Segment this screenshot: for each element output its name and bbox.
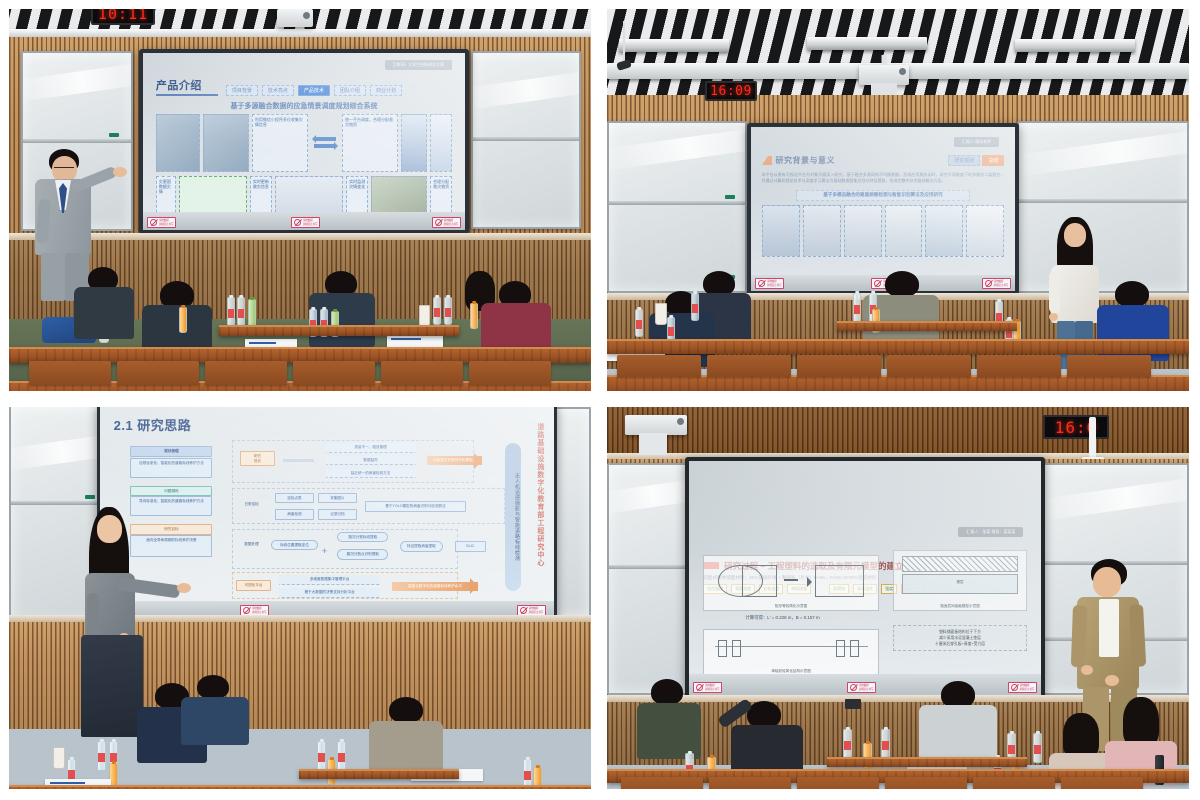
flow-platform-item: 多维度数据集中管理平台 [279, 575, 381, 584]
slide-research-background: 汇报人 指导老师 研究背景与意义 研究现状 总结 本平台以原有可视化平台为对象开… [751, 127, 1015, 291]
bottle-label [854, 305, 860, 315]
whiteboard-glare [607, 478, 691, 514]
wood-grain [607, 377, 1189, 391]
hair [885, 271, 919, 297]
bottle-cap [181, 305, 185, 308]
water-bottle [635, 309, 643, 337]
hair [389, 697, 423, 723]
flow-connector [283, 459, 314, 462]
juice-bottle [179, 307, 187, 333]
bottle-cap [883, 727, 887, 730]
whiteboard-right [471, 51, 581, 229]
slide-card [925, 205, 963, 257]
whiteboard-glare [471, 70, 581, 111]
desk-row-3 [837, 321, 1017, 331]
bottle-cap [535, 765, 539, 768]
slide-photo-disaster [203, 114, 249, 172]
cad-wheel [732, 640, 741, 657]
mic-cable [623, 21, 625, 63]
seat-back [887, 355, 971, 377]
slide-subtitle: 基于多源融合数据的应急情景调度规划综合系统 [156, 101, 452, 111]
led-clock-time: 10:11 [98, 9, 148, 23]
warning-sticker: 请勿触摸屏幕禁止书写 [291, 217, 320, 228]
hair [747, 701, 781, 728]
seat-back [797, 355, 881, 377]
flow-platform-item: 基于大数据的决策支持分析平台 [279, 588, 381, 597]
warning-text: 请勿触摸屏幕禁止书写 [705, 684, 719, 690]
hand-pointing [177, 583, 191, 593]
slide-badge: 互联网+ 大学生创新创业大赛 [385, 60, 452, 70]
bottle-label [318, 753, 325, 763]
slide-sidebar-text: 道路基础设施数字化教育部工程研究中心 [535, 423, 545, 597]
slide-arrows [311, 114, 339, 172]
slide-card [966, 205, 1004, 257]
cad-wheel [718, 640, 727, 657]
whiteboard-right [551, 407, 591, 619]
bottle-label [692, 304, 698, 313]
prohibition-icon [435, 219, 442, 226]
bottle-label [68, 770, 75, 779]
desk-row-2 [9, 785, 591, 789]
flow-algo-node: 特征提取病害提取 [400, 541, 443, 551]
water-bottle [227, 297, 235, 327]
bottle-cap [855, 291, 859, 294]
flow-label-algo: 数据处理 [236, 540, 267, 548]
juice-bottle [470, 303, 478, 329]
flow-arrow-result: 以标准交叉研究分析基础上 [427, 456, 482, 465]
cad-rect-shape [742, 565, 777, 596]
projection-screen-frame: 汇报人：张某 指导：某某某 研究过程 – 工程塑料的选取及有限元模型的建立 装配… [685, 457, 1045, 699]
panel-bottom-right: 16:0 汇报人：张某 指导：某某某 [607, 407, 1189, 789]
warning-text: 请勿触摸屏幕禁止书写 [303, 219, 317, 225]
bottle-cap [669, 315, 673, 318]
prohibition-icon [150, 219, 157, 226]
slide-badge: 汇报人 指导老师 [954, 137, 999, 147]
torso [919, 705, 997, 763]
slide-top-row: 利用微信小程序多位收集灾情信息 统一平台调度，合理分配救灾物资 [156, 114, 452, 172]
warning-sticker: 请勿触摸屏幕禁止书写 [755, 278, 784, 289]
flow-algo-node: 标线位置提取定位 [271, 540, 318, 550]
led-clock: 16:09 [705, 81, 757, 101]
audience-member [919, 681, 997, 759]
hand-pointing [113, 167, 127, 177]
water-bottle [317, 741, 326, 771]
slide-header-row: 产品介绍 项目背景 技术亮点 产品技术 团队介绍 商业计划 [156, 77, 452, 96]
panel-bottom-left: 2.1 研究思路 现状梳理 目视化老化、智能化的道路标线养护方法 问题凝练 导向… [9, 407, 591, 789]
flow-step-body: 目视化老化、智能化的道路标线养护方法 [130, 458, 212, 478]
led-clock: 16:0 [1043, 415, 1109, 439]
slide-phone-mockup [156, 114, 200, 172]
slide-text-box-right: 统一平台调度，合理分配救灾物资 [342, 114, 398, 172]
ceiling-speaker [845, 699, 861, 709]
ceiling [607, 9, 1189, 101]
audience-member [637, 679, 701, 755]
warning-text: 请勿触摸屏幕禁止书写 [252, 607, 266, 613]
plus-icon: + [322, 546, 327, 556]
warning-text: 请勿触摸屏幕禁止书写 [529, 607, 543, 613]
flow-step-header: 现状梳理 [130, 446, 212, 456]
projection-screen-frame: 互联网+ 大学生创新创业大赛 产品介绍 项目背景 技术亮点 产品技术 团队介绍 [139, 49, 469, 234]
water-bottle [1033, 733, 1042, 763]
water-bottle [97, 741, 106, 771]
whiteboard-rail [11, 501, 103, 505]
torso [74, 287, 134, 339]
doc-strip [391, 338, 420, 341]
bottle-cap [111, 739, 115, 742]
warning-text: 请勿触摸屏幕禁止书写 [444, 219, 458, 225]
seat-back [1061, 777, 1143, 789]
led-clock: 10:11 [91, 9, 155, 25]
slide-tab: 项目背景 [226, 85, 258, 96]
water-bottle [237, 297, 245, 327]
water-bottle [433, 297, 441, 325]
whiteboard-glare [21, 61, 133, 102]
audience-member [181, 675, 249, 741]
bottle-cap [319, 739, 323, 742]
projector [625, 415, 687, 435]
lecture-hall-room: 16:0 汇报人：张某 指导：某某某 [607, 407, 1189, 789]
slide-banner: 基于多模态融合的路面病害检测与智能识别算法及应用研究 [796, 190, 971, 201]
bottle-cap [865, 741, 869, 744]
bottle-label [1034, 745, 1041, 755]
projector-lens [677, 418, 684, 425]
marker-tray-icon [85, 495, 95, 499]
seat-back [885, 777, 967, 789]
flow-vertical-capsule: 无人机遥感摄影与智能道路标线检测 [505, 443, 521, 591]
wood-grain [9, 787, 591, 789]
seat-back [617, 355, 701, 377]
cad-rect-result [815, 565, 864, 596]
bottle-label [338, 753, 345, 763]
desk-row-3 [827, 757, 1027, 767]
whiteboard-rail [23, 139, 131, 143]
hair [651, 679, 683, 705]
bottle-cap [69, 757, 73, 760]
wood-grain [827, 759, 1027, 767]
projection-screen: 汇报人：张某 指导：某某某 研究过程 – 工程塑料的选取及有限元模型的建立 装配… [689, 461, 1041, 695]
cad-wheel [836, 640, 845, 657]
arm-right [1129, 604, 1146, 667]
seat-back [709, 777, 791, 789]
flow-inspect-item: 巡检点表 [275, 493, 314, 503]
flow-arrow-outcome: 智能化数字化的道路标线养护水平 [392, 582, 478, 591]
prohibition-icon [520, 607, 527, 614]
arm-left [1071, 605, 1087, 667]
seat-back [973, 777, 1055, 789]
flow-inspect-item: 病害检测 [275, 509, 314, 519]
whiteboard-left [607, 463, 691, 695]
slide-card-row [762, 205, 1005, 257]
seat-back [707, 355, 791, 377]
bottle-cap [1007, 317, 1011, 320]
bottle-label [668, 327, 674, 335]
bottle-label [98, 753, 105, 763]
slide-title: 产品介绍 [156, 77, 218, 93]
bottle-label [636, 320, 642, 329]
projector-base [871, 83, 897, 95]
wood-grain [607, 341, 1189, 354]
warning-text: 请勿触摸屏幕禁止书写 [859, 684, 873, 690]
marker-tray-icon [725, 195, 735, 199]
wood-grain [219, 327, 459, 336]
title-underline [156, 94, 218, 96]
torso [637, 703, 701, 759]
projection-screen-frame: 汇报人 指导老师 研究背景与意义 研究现状 总结 本平台以原有可视化平台为对象开… [747, 123, 1019, 295]
bottle-cap [845, 727, 849, 730]
documents [387, 335, 443, 347]
prohibition-icon [1011, 684, 1018, 691]
hand-gesture [1081, 665, 1093, 675]
flow-label-inspect: 日常巡检 [236, 500, 267, 508]
slide-tab-active: 总结 [982, 155, 1004, 166]
bottle-cap [111, 761, 115, 764]
slide-research-process: 汇报人：张某 指导：某某某 研究过程 – 工程塑料的选取及有限元模型的建立 装配… [689, 461, 1041, 695]
whiteboard-rail [609, 565, 689, 569]
whiteboard-rail [609, 201, 745, 205]
white-tshirt [1099, 599, 1119, 657]
hand-gesture [1105, 675, 1119, 686]
whiteboard-glare [1017, 126, 1189, 178]
prohibition-icon [850, 684, 857, 691]
whiteboard-rail [473, 137, 579, 141]
bottle-cap [871, 291, 875, 294]
bottle-label [238, 309, 244, 319]
torso [181, 697, 249, 745]
audience-member [74, 267, 136, 337]
projection-screen: 互联网+ 大学生创新创业大赛 产品介绍 项目背景 技术亮点 产品技术 团队介绍 [143, 53, 465, 230]
arm-raised [71, 166, 118, 193]
projector-stalk [882, 55, 887, 65]
bottle-label [1008, 745, 1015, 755]
coffee-cup [655, 303, 667, 325]
slide-tabs: 项目背景 技术亮点 产品技术 团队介绍 商业计划 [226, 85, 402, 96]
audience-member [481, 281, 551, 353]
seat-back [117, 361, 199, 385]
slide-product-intro: 互联网+ 大学生创新创业大赛 产品介绍 项目背景 技术亮点 产品技术 团队介绍 [143, 53, 465, 230]
flow-problem: 质量不一、粗放管理 [326, 443, 416, 452]
bottle-cap [339, 739, 343, 742]
flow-algo-node: 路况分割标线提取 [337, 532, 388, 542]
ceiling-light-fixture [807, 37, 927, 50]
warning-text: 请勿触摸屏幕禁止书写 [1020, 684, 1034, 690]
bottle-cap [333, 309, 337, 312]
lecture-hall-room: 16:09 汇报人 指导老师 [607, 9, 1189, 391]
bottle-label [844, 741, 851, 751]
projector-lens [303, 12, 310, 19]
projector [859, 65, 909, 85]
flow-algo-node: 路况分割点识别提取 [337, 549, 388, 559]
seat-back [205, 361, 287, 385]
torso [369, 721, 443, 773]
tea-bottle [248, 299, 256, 327]
head [1093, 567, 1121, 597]
led-clock-time: 16:09 [710, 84, 752, 99]
bottle-cap [435, 295, 439, 298]
ceiling-light-fixture [619, 39, 729, 52]
seat-back [621, 777, 703, 789]
water-bottle [444, 297, 452, 325]
water-bottle [881, 729, 890, 759]
long-skirt [81, 635, 143, 737]
bottle-cap [709, 755, 713, 758]
head [97, 515, 122, 543]
slide-tabs: 研究现状 总结 [948, 155, 1004, 166]
head [1064, 223, 1086, 247]
warning-text: 请勿触摸屏幕禁止书写 [994, 280, 1008, 286]
seat-back [293, 361, 375, 385]
leg-left [41, 253, 65, 301]
bottle-cap [311, 307, 315, 310]
slide-tab-active: 产品技术 [298, 85, 330, 96]
slide-tab: 研究现状 [948, 155, 980, 166]
cad-diagram-simplification: 矩形等效简化示意图 [703, 555, 879, 611]
projector-lens [899, 68, 906, 75]
cad-diagram-axle: 单轴双轮简化结构示意图 [703, 629, 879, 676]
bottle-cap [693, 291, 697, 294]
hair [941, 681, 975, 708]
bottle-cap [329, 757, 333, 760]
whiteboard-rail [1019, 199, 1187, 203]
desk-row-3 [299, 769, 459, 779]
whiteboard-glare [1043, 474, 1189, 521]
slide-card [803, 205, 841, 257]
bottle-label [445, 308, 451, 317]
warning-sticker: 请勿触摸屏幕禁止书写 [147, 217, 176, 228]
bottle-cap [322, 307, 326, 310]
hand-with-clicker [1049, 313, 1058, 321]
whiteboard-glare [607, 125, 747, 171]
flow-label-research: 研究现状 [240, 451, 275, 466]
marker-tray-icon [109, 133, 119, 137]
water-bottle [337, 741, 346, 771]
cad-arrow [784, 579, 798, 581]
slide-text-box-left: 利用微信小程序多位收集灾情信息 [252, 114, 308, 172]
slide-header-row: 研究背景与意义 研究现状 总结 [762, 155, 1005, 166]
audience-member [1105, 697, 1177, 779]
ceiling-slats [607, 9, 1189, 101]
warning-sticker: 请勿触摸屏幕禁止书写 [1008, 682, 1037, 693]
arm-left [1049, 271, 1060, 313]
bottle-label [882, 741, 889, 751]
projector [277, 9, 313, 27]
cad-caption: 矩形等效简化示意图 [704, 604, 878, 609]
seat-back [381, 361, 463, 385]
panel-top-left: 10:11 互联网+ [9, 9, 591, 391]
flow-algo-node: SLIC [455, 541, 486, 551]
bottle-cap [637, 307, 641, 310]
bottle-cap [229, 295, 233, 298]
lecture-hall-room: 10:11 互联网+ [9, 9, 591, 391]
bottle-cap [1009, 731, 1013, 734]
bottle-cap [446, 295, 450, 298]
audience-member [142, 281, 212, 355]
bottle-label [228, 309, 234, 319]
prohibition-icon [243, 607, 250, 614]
bottle-cap [687, 751, 691, 754]
desk-row-2 [607, 339, 1189, 354]
projector-mount [639, 433, 667, 455]
warning-text: 请勿触摸屏幕禁止书写 [767, 280, 781, 286]
doc-strip [249, 342, 276, 345]
slide-note-box: 塑料铺面板结构位于下方 减少采用水泥混凝土垫层 十厘米后穿孔板+厚度+受力层 [893, 625, 1027, 651]
cad-wheel [850, 640, 859, 657]
glasses-icon [54, 167, 74, 169]
ceiling-beam [9, 29, 591, 37]
camera-boom [1089, 417, 1096, 461]
warning-sticker: 请勿触摸屏幕禁止书写 [982, 278, 1011, 289]
wood-grain [299, 771, 459, 779]
flow-label-platform: 可视化平台 [236, 580, 271, 590]
bottle-cap [99, 739, 103, 742]
seat-back [977, 355, 1061, 377]
bottle-cap [997, 299, 1001, 302]
water-bottle [853, 293, 861, 323]
slide-card [844, 205, 882, 257]
slide-body-text: 本平台以原有可视化平台为对象开展深入研究，基于融合多源异构不均衡数据，形成应用服… [762, 172, 1005, 184]
arm-lower [87, 593, 99, 637]
flow-inspect-item: 采集图片 [318, 493, 357, 503]
warning-sticker: 请勿触摸屏幕禁止书写 [847, 682, 876, 693]
flow-problem: 缺乏统一的病害检测方法 [326, 469, 416, 478]
slide-title: 研究背景与意义 [776, 155, 836, 166]
prohibition-icon [758, 280, 765, 287]
ceiling-light-fixture [1015, 39, 1135, 52]
slide-card [762, 205, 800, 257]
desk-row-3 [219, 325, 459, 336]
bottle-cap [1035, 731, 1039, 734]
arrow-left-icon [314, 137, 336, 141]
panel-top-right: 16:09 汇报人 指导老师 [607, 9, 1189, 391]
slide-tab: 团队介绍 [334, 85, 366, 96]
hair-long [1123, 697, 1159, 747]
seat-back [469, 361, 551, 385]
water-bottle [691, 293, 699, 321]
photo-collage: 10:11 互联网+ [0, 0, 1200, 800]
seat-back [797, 777, 879, 789]
audience-member [369, 697, 443, 767]
bottle-cap [239, 295, 243, 298]
bottle-cap [525, 757, 529, 760]
slide-table-panel [430, 114, 452, 172]
slide-flowchart: 现状梳理 目视化老化、智能化的道路标线养护方法 问题凝练 导向标准化、智能化的道… [123, 440, 513, 601]
slide-tab: 技术亮点 [262, 85, 294, 96]
coffee-cup [419, 305, 430, 327]
bottle-label [524, 771, 531, 781]
warning-sticker: 请勿触摸屏幕禁止书写 [432, 217, 461, 228]
torso [309, 293, 375, 347]
slide-tab: 商业计划 [370, 85, 402, 96]
hair [1115, 281, 1149, 307]
bottle-cap [472, 301, 476, 304]
bottle-cap [874, 307, 878, 310]
slide-title: 2.1 研究思路 [114, 415, 541, 434]
water-bottle [843, 729, 852, 759]
cad-caption: 路面层间接触模型示意图 [894, 604, 1026, 609]
flow-step-header: 问题凝练 [130, 486, 212, 496]
bottle-cap [250, 297, 254, 300]
audience-member [731, 701, 803, 777]
seat-back [29, 361, 111, 385]
whiteboard-glare [9, 433, 105, 471]
calculation-result: 计算可得：L' = 0.228 m，B = 0.157 m [745, 615, 819, 621]
warning-text: 请勿触摸屏幕禁止书写 [159, 219, 173, 225]
desk-row-1 [607, 375, 1189, 391]
bottle-label [434, 308, 440, 317]
slide-card [885, 205, 923, 257]
doc-strip [50, 782, 84, 785]
prohibition-icon [294, 219, 301, 226]
flow-inspect-item: 记录归档 [318, 509, 357, 519]
